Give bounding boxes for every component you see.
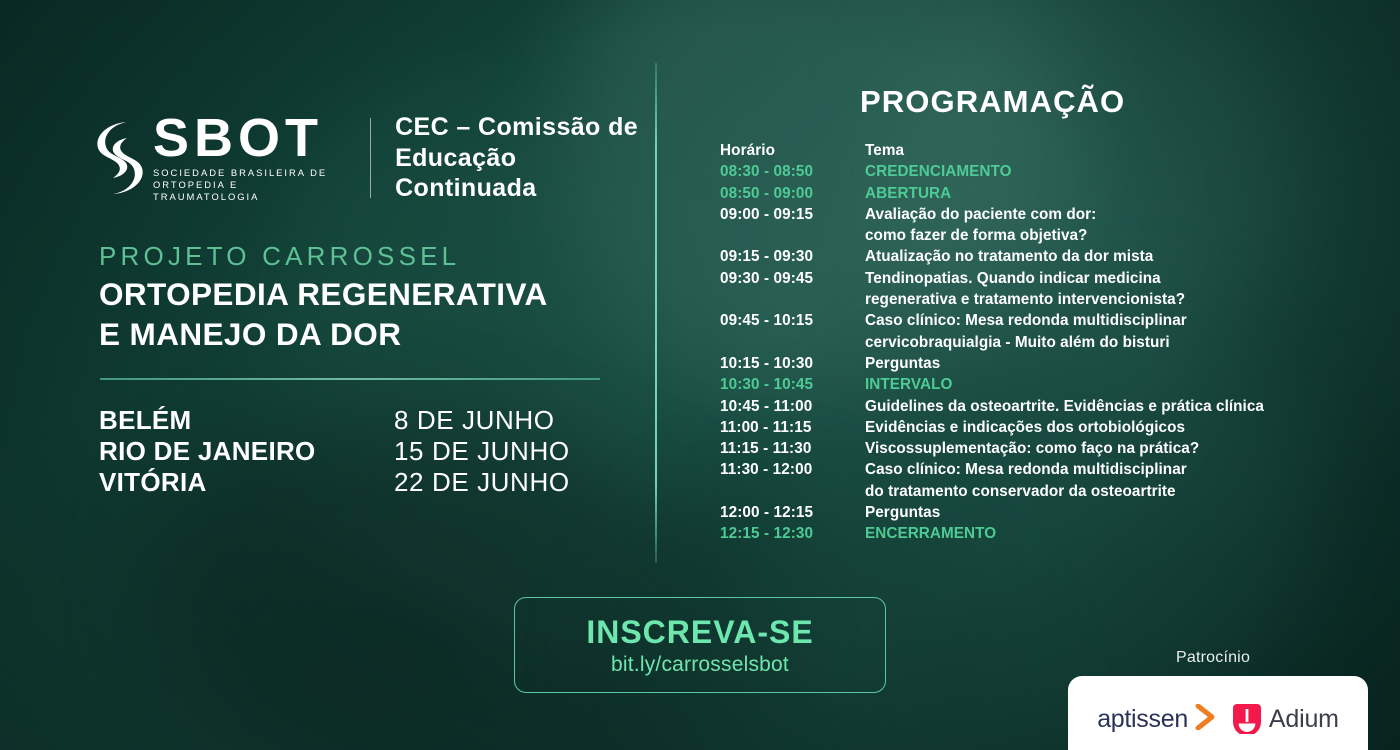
schedule-time: 10:30 - 10:45 <box>720 374 865 395</box>
table-row: 10:15 - 10:30Perguntas <box>720 353 1380 374</box>
column-header-time: Horário <box>720 140 865 161</box>
schedule-topic-line1: Perguntas <box>865 504 940 521</box>
schedule-time: 09:15 - 09:30 <box>720 246 865 267</box>
schedule-topic-line1: Caso clínico: Mesa redonda multidiscipli… <box>865 312 1187 329</box>
schedule-topic-line1: Atualização no tratamento da dor mista <box>865 248 1153 265</box>
schedule-topic-line1: Guidelines da osteoartrite. Evidências e… <box>865 398 1264 415</box>
schedule-topic-line1: INTERVALO <box>865 376 952 393</box>
sbot-subtitle-line1: SOCIEDADE BRASILEIRA DE <box>153 167 342 179</box>
schedule-topic-line1: Caso clínico: Mesa redonda multidiscipli… <box>865 461 1187 478</box>
schedule-time: 09:00 - 09:15 <box>720 204 865 225</box>
project-kicker: PROJETO CARROSSEL <box>99 241 460 272</box>
schedule-topic-line1: Perguntas <box>865 355 940 372</box>
schedule-topic: CREDENCIAMENTO <box>865 161 1012 182</box>
table-row: 09:30 - 09:45Tendinopatias. Quando indic… <box>720 268 1380 311</box>
schedule-topic: Atualização no tratamento da dor mista <box>865 246 1153 267</box>
list-item: BELÉM 8 DE JUNHO <box>99 405 570 436</box>
table-row: 12:15 - 12:30ENCERRAMENTO <box>720 523 1380 544</box>
schedule-topic-line1: ABERTURA <box>865 185 951 202</box>
schedule-time: 11:00 - 11:15 <box>720 417 865 438</box>
table-row: 10:45 - 11:00Guidelines da osteoartrite.… <box>720 396 1380 417</box>
schedule-topic: ENCERRAMENTO <box>865 523 996 544</box>
edition-city: VITÓRIA <box>99 467 394 498</box>
sbot-logo-icon <box>97 116 143 200</box>
sponsor-adium: Adium <box>1233 704 1339 734</box>
brand-divider <box>370 118 371 198</box>
schedule-topic-line2: regenerativa e tratamento intervencionis… <box>865 289 1185 310</box>
schedule-topic: Caso clínico: Mesa redonda multidiscipli… <box>865 310 1187 353</box>
table-row: 09:45 - 10:15Caso clínico: Mesa redonda … <box>720 310 1380 353</box>
edition-city: BELÉM <box>99 405 394 436</box>
schedule-time: 11:30 - 12:00 <box>720 459 865 480</box>
edition-city: RIO DE JANEIRO <box>99 436 394 467</box>
editions-list: BELÉM 8 DE JUNHO RIO DE JANEIRO 15 DE JU… <box>99 405 570 498</box>
table-row: 11:15 - 11:30Viscossuplementação: como f… <box>720 438 1380 459</box>
column-header-topic: Tema <box>865 140 904 161</box>
schedule-table: Horário Tema 08:30 - 08:50CREDENCIAMENTO… <box>720 140 1380 545</box>
table-row: 10:30 - 10:45INTERVALO <box>720 374 1380 395</box>
table-row: 12:00 - 12:15Perguntas <box>720 502 1380 523</box>
table-row: 09:15 - 09:30Atualização no tratamento d… <box>720 246 1380 267</box>
table-row: 08:30 - 08:50CREDENCIAMENTO <box>720 161 1380 182</box>
schedule-topic: Perguntas <box>865 502 940 523</box>
schedule-time: 09:45 - 10:15 <box>720 310 865 331</box>
table-row: 08:50 - 09:00ABERTURA <box>720 183 1380 204</box>
schedule-topic-line1: Avaliação do paciente com dor: <box>865 206 1096 223</box>
sbot-acronym: SBOT <box>153 113 342 164</box>
schedule-topic-line1: Viscossuplementação: como faço na prátic… <box>865 440 1199 457</box>
aptissen-wordmark: aptissen <box>1097 705 1188 734</box>
sbot-wordmark: SBOT SOCIEDADE BRASILEIRA DE ORTOPEDIA E… <box>153 113 342 203</box>
register-label: INSCREVA-SE <box>586 614 813 651</box>
list-item: VITÓRIA 22 DE JUNHO <box>99 467 570 498</box>
page-title: ORTOPEDIA REGENERATIVA E MANEJO DA DOR <box>99 274 548 354</box>
schedule-topic-line2: cervicobraquialgia - Muito além do bistu… <box>865 332 1187 353</box>
sbot-subtitle-line2: ORTOPEDIA E TRAUMATOLOGIA <box>153 179 342 203</box>
sponsor-card: aptissen Adium <box>1068 676 1368 750</box>
schedule-topic-line2: como fazer de forma objetiva? <box>865 225 1096 246</box>
event-poster: SBOT SOCIEDADE BRASILEIRA DE ORTOPEDIA E… <box>0 0 1400 750</box>
title-line1: ORTOPEDIA REGENERATIVA <box>99 274 548 314</box>
schedule-time: 08:30 - 08:50 <box>720 161 865 182</box>
schedule-time: 08:50 - 09:00 <box>720 183 865 204</box>
schedule-time: 12:15 - 12:30 <box>720 523 865 544</box>
table-row: 09:00 - 09:15Avaliação do paciente com d… <box>720 204 1380 247</box>
committee-name: CEC – Comissão de Educação Continuada <box>395 112 655 204</box>
schedule-topic: ABERTURA <box>865 183 951 204</box>
list-item: RIO DE JANEIRO 15 DE JUNHO <box>99 436 570 467</box>
schedule-topic: Evidências e indicações dos ortobiológic… <box>865 417 1185 438</box>
schedule-time: 09:30 - 09:45 <box>720 268 865 289</box>
register-url[interactable]: bit.ly/carrosselsbot <box>611 653 789 677</box>
schedule-topic-line1: Evidências e indicações dos ortobiológic… <box>865 419 1185 436</box>
schedule-topic: INTERVALO <box>865 374 952 395</box>
schedule-heading: PROGRAMAÇÃO <box>860 84 1125 120</box>
schedule-topic: Tendinopatias. Quando indicar medicinare… <box>865 268 1185 311</box>
schedule-topic-line1: CREDENCIAMENTO <box>865 163 1012 180</box>
table-row: 11:30 - 12:00Caso clínico: Mesa redonda … <box>720 459 1380 502</box>
brand-header: SBOT SOCIEDADE BRASILEIRA DE ORTOPEDIA E… <box>97 112 655 204</box>
schedule-time: 12:00 - 12:15 <box>720 502 865 523</box>
committee-line2: Educação Continuada <box>395 143 655 204</box>
schedule-topic-line1: ENCERRAMENTO <box>865 525 996 542</box>
schedule-topic: Avaliação do paciente com dor:como fazer… <box>865 204 1096 247</box>
edition-date: 8 DE JUNHO <box>394 405 555 436</box>
schedule-topic: Perguntas <box>865 353 940 374</box>
title-line2: E MANEJO DA DOR <box>99 314 548 354</box>
edition-date: 15 DE JUNHO <box>394 436 570 467</box>
schedule-topic: Guidelines da osteoartrite. Evidências e… <box>865 396 1264 417</box>
adium-mark-icon <box>1233 704 1261 734</box>
table-header-row: Horário Tema <box>720 140 1380 161</box>
edition-date: 22 DE JUNHO <box>394 467 570 498</box>
schedule-topic: Caso clínico: Mesa redonda multidiscipli… <box>865 459 1187 502</box>
schedule-topic-line2: do tratamento conservador da osteoartrit… <box>865 481 1187 502</box>
table-row: 11:00 - 11:15Evidências e indicações dos… <box>720 417 1380 438</box>
sponsors-label: Patrocínio <box>1176 649 1250 667</box>
sponsor-aptissen: aptissen <box>1097 704 1217 735</box>
schedule-topic: Viscossuplementação: como faço na prátic… <box>865 438 1199 459</box>
horizontal-divider <box>100 378 600 380</box>
adium-wordmark: Adium <box>1269 705 1339 734</box>
schedule-time: 10:15 - 10:30 <box>720 353 865 374</box>
schedule-time: 10:45 - 11:00 <box>720 396 865 417</box>
register-button[interactable]: INSCREVA-SE bit.ly/carrosselsbot <box>514 597 886 693</box>
schedule-topic-line1: Tendinopatias. Quando indicar medicina <box>865 270 1161 287</box>
aptissen-chevron-icon <box>1195 704 1217 735</box>
committee-line1: CEC – Comissão de <box>395 112 655 143</box>
schedule-time: 11:15 - 11:30 <box>720 438 865 459</box>
